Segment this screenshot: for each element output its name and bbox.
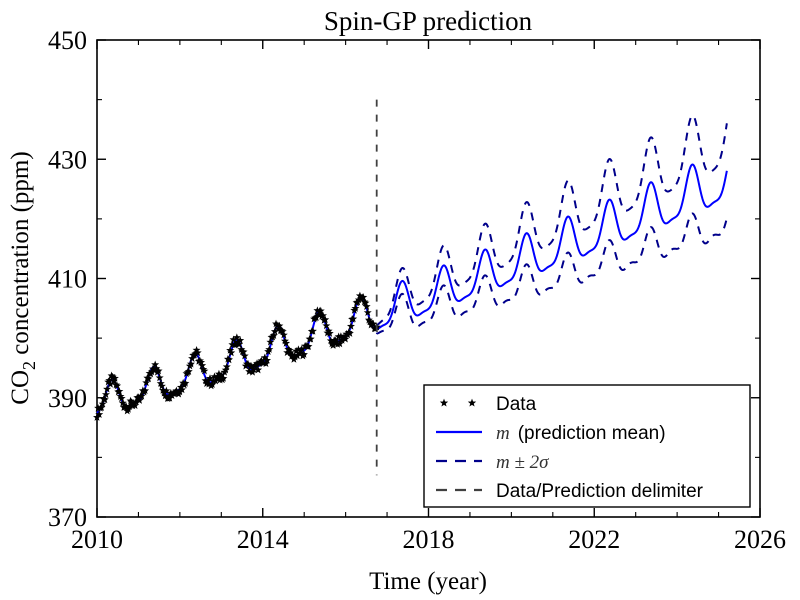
- legend-entry-label: Data/Prediction delimiter: [496, 481, 704, 502]
- y-ticklabel: 390: [48, 384, 87, 413]
- x-axis-ticklabels: 20102014201820222026: [71, 525, 786, 554]
- chart-title: Spin-GP prediction: [324, 6, 533, 36]
- y-axis-label-pre: CO: [7, 370, 34, 405]
- legend-entry-label: Data: [496, 394, 537, 415]
- legend-text: Data/Prediction delimiter: [496, 481, 704, 502]
- y-axis-label-post: concentration (ppm): [7, 151, 34, 361]
- x-axis-label: Time (year): [369, 568, 487, 595]
- legend-text: (prediction mean): [518, 423, 666, 444]
- co2-prediction-chart: 20102014201820222026 370390410430450 Spi…: [0, 0, 800, 600]
- y-axis-label: CO2 concentration (ppm): [7, 151, 39, 404]
- figure-canvas: 20102014201820222026 370390410430450 Spi…: [0, 0, 800, 600]
- x-ticklabel: 2026: [734, 525, 786, 554]
- legend-math-symbol: m ± 2σ: [496, 452, 549, 473]
- legend-entry-label: m(prediction mean): [496, 423, 666, 444]
- y-ticklabel: 370: [48, 503, 87, 532]
- legend-entry-label: m ± 2σ: [496, 452, 549, 473]
- x-ticklabel: 2018: [403, 525, 455, 554]
- y-ticklabel: 410: [48, 265, 87, 294]
- legend-math-symbol: m: [496, 423, 510, 444]
- y-ticklabel: 450: [48, 26, 87, 55]
- y-axis-ticklabels: 370390410430450: [48, 26, 87, 532]
- legend-text: Data: [496, 394, 537, 415]
- x-ticklabel: 2022: [568, 525, 620, 554]
- chart-legend[interactable]: Datam(prediction mean)m ± 2σData/Predict…: [424, 385, 750, 507]
- x-ticklabel: 2014: [237, 525, 289, 554]
- y-ticklabel: 430: [48, 145, 87, 174]
- y-axis-label-subscript: 2: [19, 361, 39, 370]
